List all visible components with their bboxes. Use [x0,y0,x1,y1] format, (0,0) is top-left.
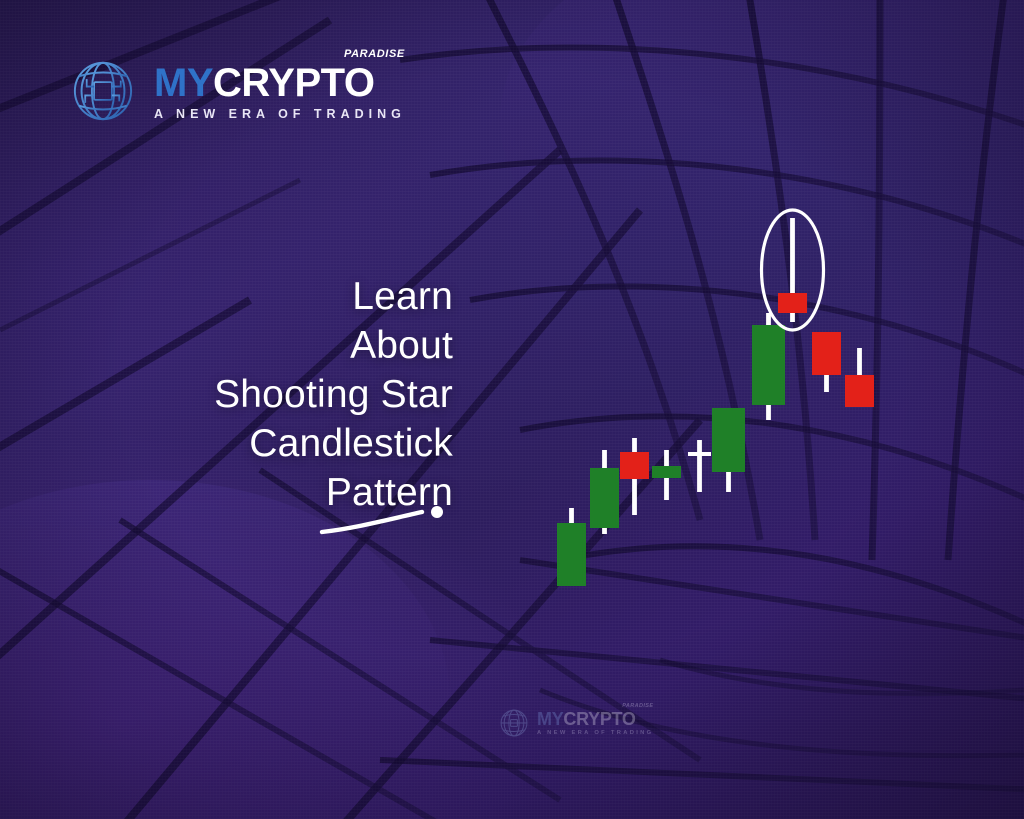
candlestick [778,218,807,322]
candlestick [590,450,619,534]
candle-body [845,375,874,407]
candle-body [812,332,841,375]
candle-body [712,408,745,472]
footer-brand-name: MYCRYPTO PARADISE [537,710,653,728]
candlestick [688,440,711,492]
footer-brand-tagline: A NEW ERA OF TRADING [537,730,653,736]
globe-circuit-icon [497,706,531,740]
poster-canvas: MYCRYPTO PARADISE A NEW ERA OF TRADING L… [0,0,1024,819]
candlestick [620,438,649,515]
footer-brand-superscript: PARADISE [622,704,653,710]
candle-body [688,452,711,456]
candle-body [752,325,785,405]
footer-brand-name-my: MY [537,709,563,729]
candlestick [652,450,681,500]
candlestick [752,313,785,420]
footer-watermark-logo: MYCRYPTO PARADISE A NEW ERA OF TRADING [497,706,653,740]
candlestick-chart [0,0,1024,819]
candlestick [845,348,874,407]
footer-brand-name-crypto: CRYPTO [563,709,635,729]
candle-body [590,468,619,528]
candle-body [557,523,586,586]
candlestick [812,332,841,392]
candlestick [557,508,586,586]
candle-body [652,466,681,478]
candle-body [620,452,649,479]
candle-body [778,293,807,313]
candlestick [712,408,745,492]
footer-watermark-wordmark: MYCRYPTO PARADISE A NEW ERA OF TRADING [537,710,653,736]
candle-wick [697,440,702,492]
